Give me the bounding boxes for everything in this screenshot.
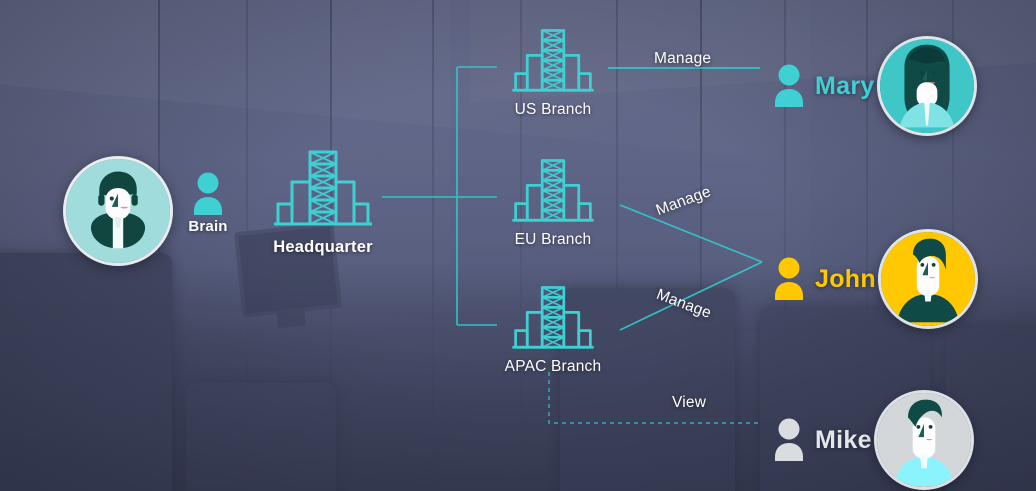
edge-label-us-mary: Manage (654, 50, 711, 68)
person-name-mike: Mike (815, 426, 872, 455)
node-us-branch[interactable]: US Branch (497, 25, 609, 119)
person-name-mary: Mary (815, 72, 875, 101)
building-icon (509, 155, 597, 229)
person-icon (191, 172, 225, 216)
node-apac-branch[interactable]: APAC Branch (493, 282, 613, 376)
mike-avatar (874, 390, 974, 490)
building-icon (509, 282, 597, 356)
john-avatar (878, 229, 978, 329)
edge-label-apac-mike: View (672, 394, 706, 412)
person-icon (772, 257, 806, 301)
person-icon (772, 418, 806, 462)
node-headquarter[interactable]: Headquarter (258, 146, 388, 257)
brain-avatar (63, 156, 173, 266)
link-eu-john (620, 205, 762, 262)
building-icon (509, 25, 597, 99)
headquarter-label: Headquarter (258, 238, 388, 257)
person-icon (772, 64, 806, 108)
person-name-john: John (815, 265, 876, 294)
us-branch-label: US Branch (497, 101, 609, 119)
eu-branch-label: EU Branch (497, 231, 609, 249)
link-apac-john (620, 262, 762, 330)
mary-avatar (877, 36, 977, 136)
building-icon (270, 146, 376, 234)
apac-branch-label: APAC Branch (493, 358, 613, 376)
brain-label: Brain (180, 218, 236, 235)
person-row-john[interactable]: John (772, 229, 978, 329)
person-row-mike[interactable]: Mike (772, 390, 974, 490)
person-row-mary[interactable]: Mary (772, 36, 977, 136)
permission-diagram-canvas: Manage Manage Manage View (0, 0, 1036, 491)
node-eu-branch[interactable]: EU Branch (497, 155, 609, 249)
root-node-brain[interactable] (63, 156, 173, 266)
link-apac-mike (549, 372, 760, 423)
node-brain-label[interactable]: Brain (180, 172, 236, 235)
